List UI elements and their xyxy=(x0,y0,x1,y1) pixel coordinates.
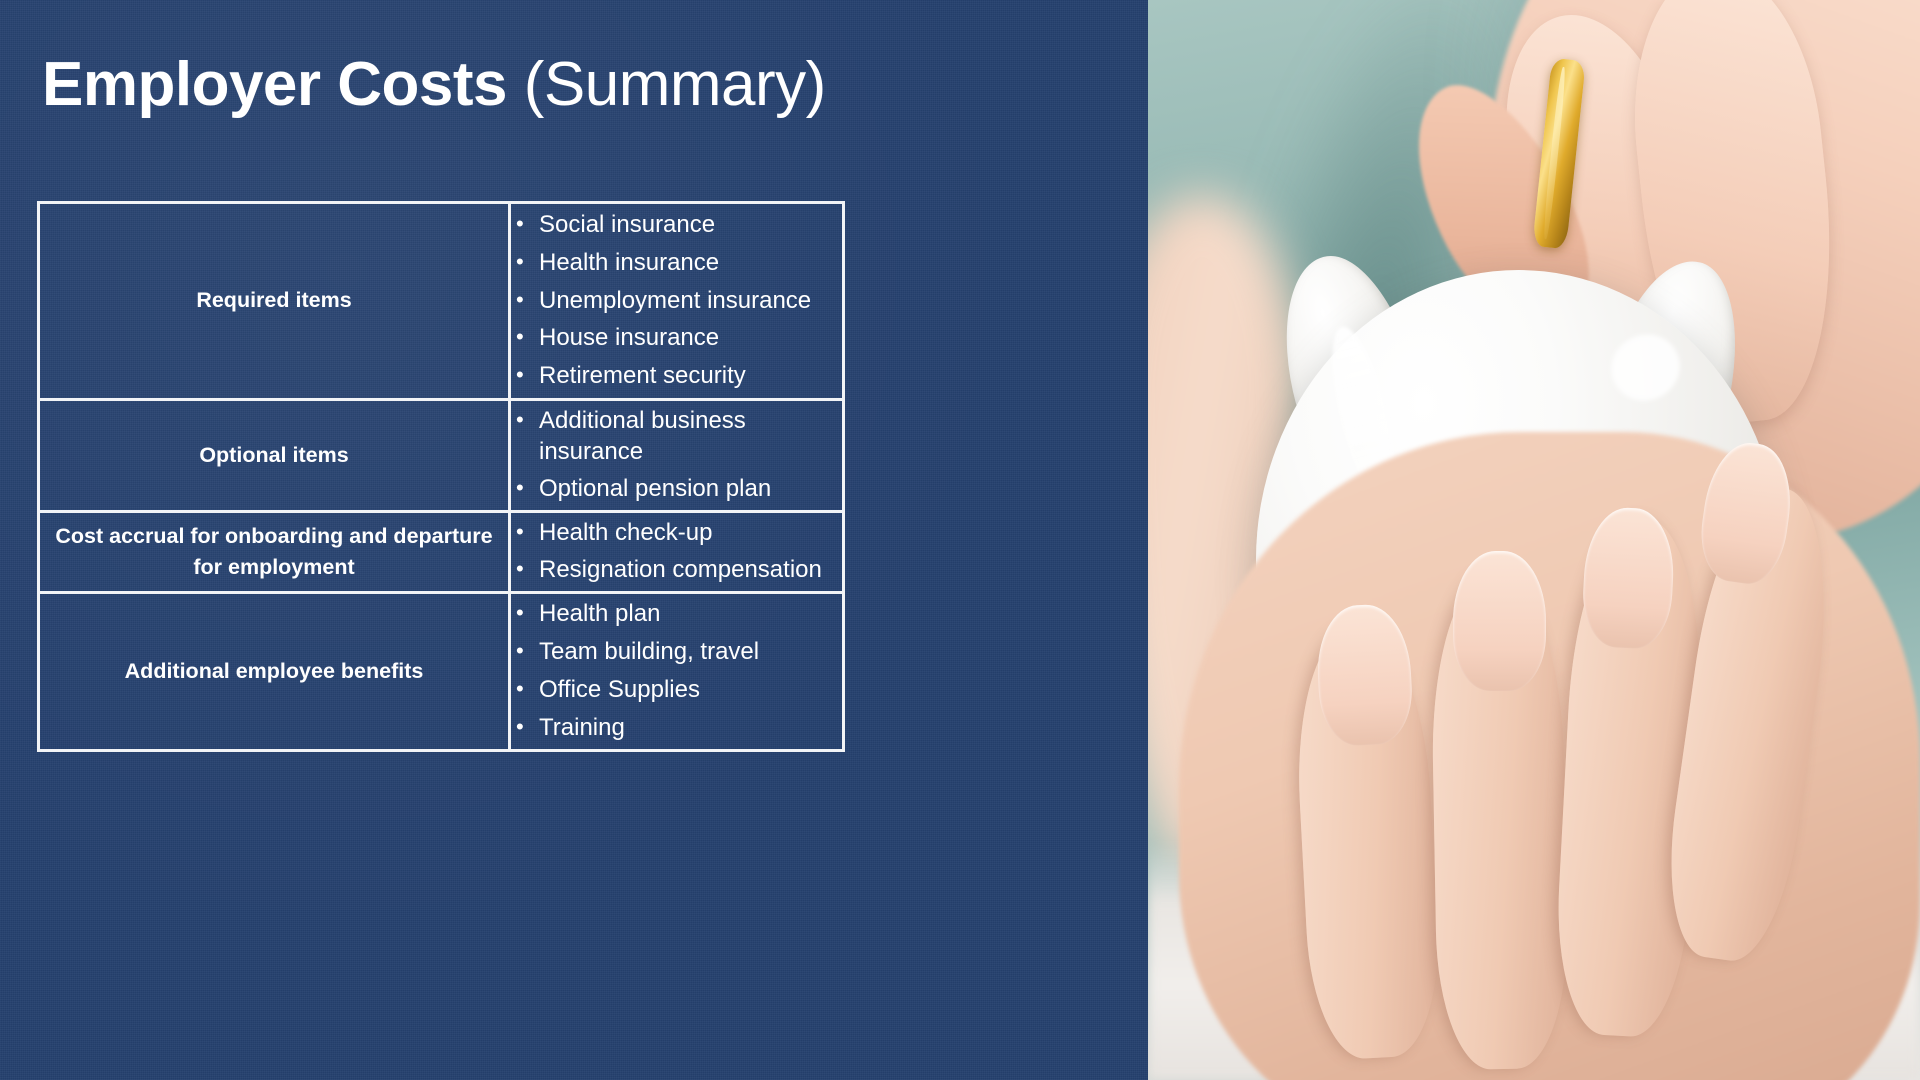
list-item: Office Supplies xyxy=(539,671,842,709)
list-item: Optional pension plan xyxy=(539,471,842,509)
item-list: Health plan Team building, travel Office… xyxy=(511,596,842,747)
page-title-primary: Employer Costs xyxy=(42,50,507,119)
list-item: Social insurance xyxy=(539,207,842,245)
list-item: Team building, travel xyxy=(539,634,842,672)
item-list: Social insurance Health insurance Unempl… xyxy=(511,207,842,396)
list-item: Retirement security xyxy=(539,358,842,396)
fingernail xyxy=(1453,551,1546,691)
list-item: Health insurance xyxy=(539,244,842,282)
table-cell-category: Required items xyxy=(39,203,510,400)
list-item: Additional business insurance xyxy=(539,402,842,470)
list-item: Resignation compensation xyxy=(539,552,842,590)
page-title-secondary: (Summary) xyxy=(524,50,826,119)
slide-canvas: Employer Costs (Summary) Required items … xyxy=(0,0,1920,1080)
list-item: House insurance xyxy=(539,320,842,358)
list-item: Training xyxy=(539,709,842,747)
table-cell-category: Additional employee benefits xyxy=(39,592,510,750)
list-item: Unemployment insurance xyxy=(539,282,842,320)
table-row: Required items Social insurance Health i… xyxy=(39,203,844,400)
list-item: Health check-up xyxy=(539,514,842,552)
table-body: Required items Social insurance Health i… xyxy=(39,203,844,751)
table-row: Additional employee benefits Health plan… xyxy=(39,592,844,750)
table-row: Optional items Additional business insur… xyxy=(39,399,844,511)
item-list: Additional business insurance Optional p… xyxy=(511,402,842,508)
table-cell-items: Additional business insurance Optional p… xyxy=(510,399,844,511)
table-cell-category: Cost accrual for onboarding and departur… xyxy=(39,512,510,593)
table-cell-items: Social insurance Health insurance Unempl… xyxy=(510,203,844,400)
table-row: Cost accrual for onboarding and departur… xyxy=(39,512,844,593)
item-list: Health check-up Resignation compensation xyxy=(511,514,842,589)
table-cell-items: Health plan Team building, travel Office… xyxy=(510,592,844,750)
table-cell-category: Optional items xyxy=(39,399,510,511)
list-item: Health plan xyxy=(539,596,842,634)
piggy-bank-photo xyxy=(1148,0,1920,1080)
employer-costs-table: Required items Social insurance Health i… xyxy=(37,201,845,752)
table-cell-items: Health check-up Resignation compensation xyxy=(510,512,844,593)
page-title: Employer Costs (Summary) xyxy=(42,52,826,117)
